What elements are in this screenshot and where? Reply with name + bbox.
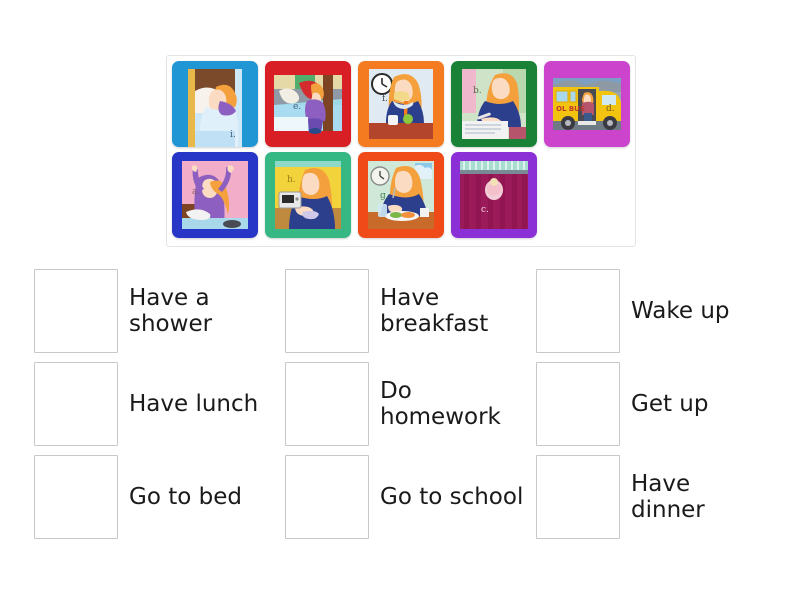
dropzone-have-dinner[interactable] [536,455,620,539]
answer-label: Go to bed [129,484,242,510]
svg-text:a.: a. [192,187,200,197]
answer-label: Get up [631,391,708,417]
image-tile-girl-having-breakfast[interactable]: h. [265,152,351,238]
answer-label: Have breakfast [380,285,530,337]
answer-row: Have lunch Do homework Get up [34,357,770,450]
image-tile-girl-sleeping-in-bed[interactable]: i. [172,61,258,147]
answer-cell: Wake up [536,264,770,357]
answer-cell: Do homework [285,357,536,450]
answer-label: Have dinner [631,471,770,523]
answer-cell: Go to bed [34,450,285,543]
image-bank: i. [166,55,636,247]
image-tile-girl-waking-up[interactable]: a. [172,152,258,238]
dropzone-go-to-bed[interactable] [34,455,118,539]
image-tile-girl-eating-sandwich[interactable]: f. [358,61,444,147]
answer-label: Have a shower [129,285,279,337]
image-tile-placeholder [637,152,723,238]
image-tile-placeholder [637,61,723,147]
svg-text:d.: d. [606,104,615,114]
dropzone-have-lunch[interactable] [34,362,118,446]
svg-text:e.: e. [293,102,301,112]
svg-text:g.: g. [380,191,389,201]
dropzone-have-a-shower[interactable] [34,269,118,353]
dropzone-wake-up[interactable] [536,269,620,353]
svg-text:c.: c. [481,205,489,215]
answer-grid: Have a shower Have breakfast Wake up Hav… [34,264,770,543]
answer-label: Have lunch [129,391,258,417]
dropzone-do-homework[interactable] [285,362,369,446]
answer-row: Have a shower Have breakfast Wake up [34,264,770,357]
svg-text:f.: f. [382,94,388,104]
image-tile-girl-eating-dinner[interactable]: g. [358,152,444,238]
answer-cell: Go to school [285,450,536,543]
image-tile-girl-doing-homework[interactable]: b. [451,61,537,147]
answer-cell: Have breakfast [285,264,536,357]
svg-text:h.: h. [287,175,296,185]
answer-label: Go to school [380,484,523,510]
answer-cell: Have a shower [34,264,285,357]
image-bank-row-1: i. [172,61,635,147]
answer-cell: Get up [536,357,770,450]
svg-text:b.: b. [473,86,482,96]
answer-cell: Have lunch [34,357,285,450]
svg-text:OL BUS: OL BUS [556,105,585,113]
svg-text:i.: i. [230,130,236,140]
image-tile-school-bus[interactable]: OL BUS d. [544,61,630,147]
dropzone-go-to-school[interactable] [285,455,369,539]
dropzone-get-up[interactable] [536,362,620,446]
answer-row: Go to bed Go to school Have dinner [34,450,770,543]
activity-page: i. [0,0,800,600]
image-bank-row-2: a. h. [172,152,635,238]
answer-label: Wake up [631,298,730,324]
dropzone-have-breakfast[interactable] [285,269,369,353]
image-tile-girl-sitting-up-on-bed[interactable]: e. [265,61,351,147]
image-tile-shower[interactable]: c. [451,152,537,238]
answer-cell: Have dinner [536,450,770,543]
answer-label: Do homework [380,378,530,430]
image-tile-placeholder [544,152,630,238]
